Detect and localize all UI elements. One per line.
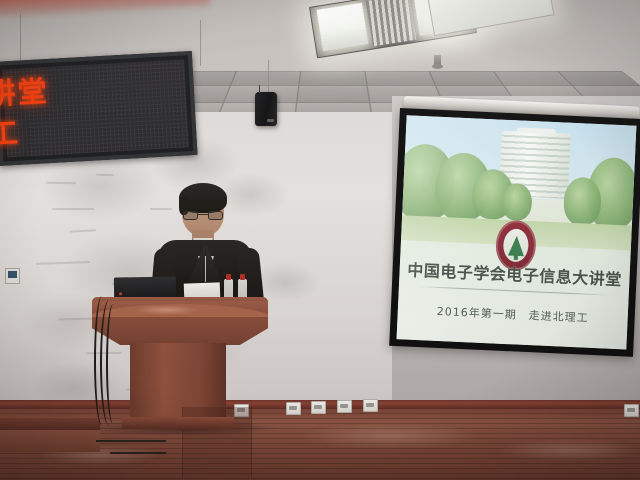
lecture-hall-photo: 大讲堂 理工	[0, 0, 640, 480]
sprinkler-icon	[434, 55, 441, 67]
wall-socket[interactable]	[624, 404, 639, 417]
stage-step-edge	[0, 418, 100, 430]
led-sign-line2: 理工	[0, 103, 189, 156]
emblem-pine-tree-icon	[507, 235, 524, 256]
projection-screen: 中国电子学会电子信息大讲堂 2016年第一期 走进北理工	[389, 108, 640, 357]
floor-reflection	[500, 439, 640, 461]
ceiling-tile	[365, 71, 436, 86]
podium-column	[130, 343, 226, 421]
lens-left	[183, 211, 198, 220]
wall-socket[interactable]	[286, 402, 301, 415]
sign-hanging-wire	[20, 14, 21, 64]
jacket-lapel-right	[206, 244, 223, 284]
emblem-inner-oval	[503, 228, 529, 262]
floor-plank-line	[0, 473, 640, 474]
ceiling-tile	[429, 71, 504, 86]
led-marquee-sign: 大讲堂 理工	[0, 51, 197, 166]
light-louver	[366, 0, 417, 46]
ceiling-tile	[558, 71, 640, 86]
ceiling-tile	[299, 71, 367, 86]
led-sign-frame: 大讲堂 理工	[0, 51, 197, 166]
sign-hanging-wire	[200, 20, 201, 66]
glasses-bridge	[198, 214, 208, 215]
podium-highlight	[134, 305, 200, 315]
whiteboard-mark	[52, 208, 94, 210]
wall-data-port[interactable]	[5, 268, 20, 284]
speaker-badge	[267, 119, 274, 122]
speaker-hanging-wire	[268, 60, 269, 94]
presenter-hair	[179, 183, 227, 213]
eyeglasses-icon	[183, 211, 223, 220]
stage-step-top	[0, 430, 100, 452]
wall-socket[interactable]	[311, 401, 326, 414]
wall-speaker-icon	[255, 92, 277, 126]
fluorescent-light-fixture-secondary	[428, 0, 555, 36]
floor-plank-line	[0, 478, 640, 479]
lens-right	[208, 211, 223, 220]
floor-reflection	[300, 423, 480, 449]
wall-socket[interactable]	[337, 400, 352, 413]
tree	[501, 182, 533, 221]
jacket-lapel-left	[188, 244, 205, 284]
projected-slide: 中国电子学会电子信息大讲堂 2016年第一期 走进北理工	[397, 115, 637, 349]
podium-base	[122, 417, 234, 429]
ceiling-tile	[230, 71, 300, 86]
floor-plank-line	[0, 468, 640, 469]
ceiling-tile	[297, 86, 370, 103]
wall-socket[interactable]	[363, 399, 378, 412]
led-pixel-matrix: 大讲堂 理工	[2, 59, 189, 157]
floor-cable	[96, 440, 166, 442]
cable	[106, 304, 120, 424]
light-tube	[316, 3, 368, 52]
whiteboard-mark	[70, 229, 96, 232]
tree	[563, 177, 602, 226]
floor-cable	[110, 452, 166, 454]
